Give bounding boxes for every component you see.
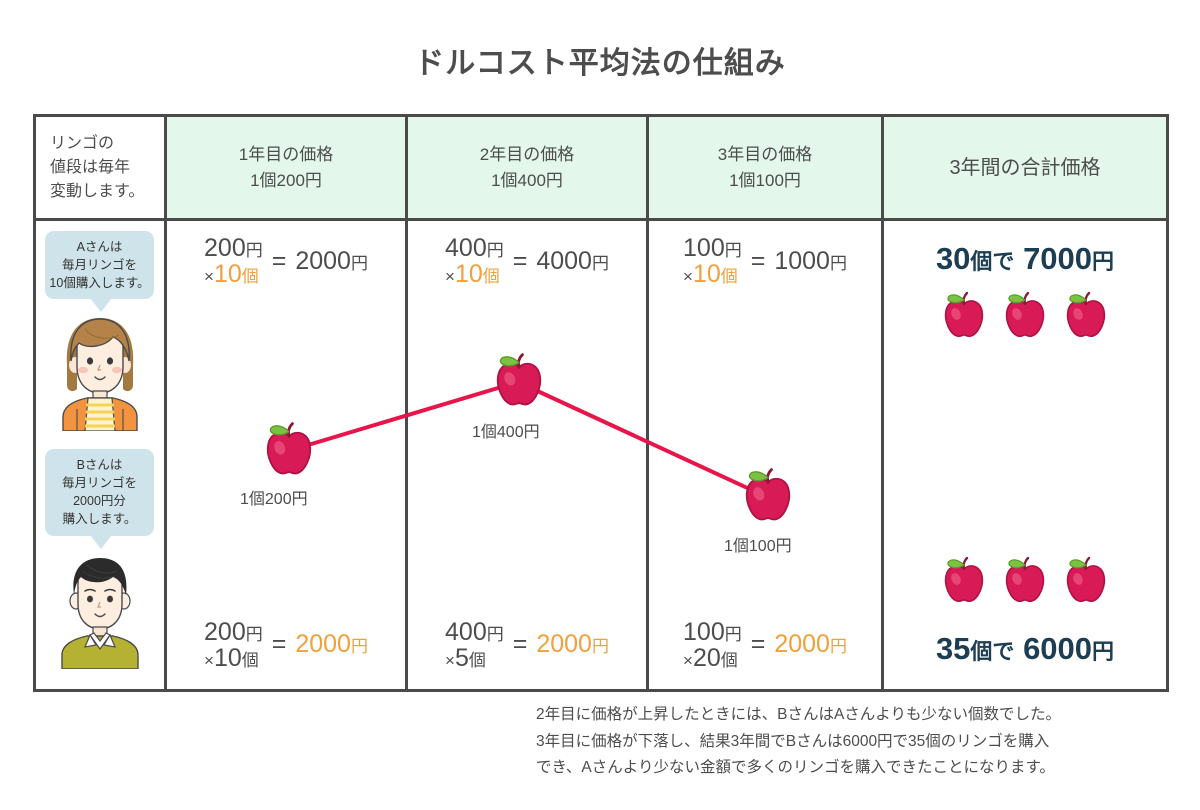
table-header-year3: 3年目の価格 1個100円 [649,117,884,221]
table-header-year2: 2年目の価格 1個400円 [408,117,649,221]
footnote-line-3: でき、Aさんより少ない金額で多くのリンゴを購入できたことになります。 [536,755,1176,782]
b-y1-price: 200 [204,618,246,646]
calc-person-b-year2: 400円 ×5個 = 2000円 [408,619,646,672]
b-y2-result: 2000 [536,630,592,658]
speech-bubble-person-a: Aさんは 毎月リンゴを 10個購入します。 [45,231,154,299]
b-y1-qty-unit: 個 [242,651,259,670]
total-a-count-unit: 個で [970,249,1014,274]
total-a-amount-unit: 円 [1092,249,1114,274]
note-line-1: リンゴの [50,132,144,156]
bubble-a-line-2: 毎月リンゴを [48,256,151,274]
a-y1-result-unit: 円 [351,254,368,273]
apple-icon [938,554,990,611]
b-y3-price: 100 [683,618,725,646]
a-y1-price-unit: 円 [246,241,263,260]
a-y2-price: 400 [445,234,487,262]
bubble-a-line-3: 10個購入します。 [48,274,151,292]
woman-avatar [57,313,143,436]
page-title: ドルコスト平均法の仕組み [0,38,1200,82]
calc-person-b-year3: 100円 ×20個 = 2000円 [649,619,881,672]
a-y2-equals: = [513,247,528,276]
year2-title: 2年目の価格 [480,142,574,168]
a-y1-qty-unit: 個 [242,267,259,286]
b-y1-equals: = [272,630,287,659]
b-y2-qty: 5 [455,644,469,672]
a-y3-result: 1000 [774,247,830,275]
apple-icon [999,554,1051,611]
b-y3-result-unit: 円 [830,637,847,656]
a-y2-mult: × [445,267,455,286]
a-y1-price: 200 [204,234,246,262]
a-y2-result-unit: 円 [592,254,609,273]
footnote: 2年目に価格が上昇したときには、BさんはAさんよりも少ない個数でした。 3年目に… [536,702,1176,782]
apple-icon [999,289,1051,346]
b-y1-mult: × [204,651,214,670]
total-b-apple-group [884,554,1166,611]
table-header-total: 3年間の合計価格 [884,117,1166,221]
bubble-b-line-1: Bさんは [48,456,151,474]
a-y1-equals: = [272,247,287,276]
table-header-year1: 1年目の価格 1個200円 [167,117,408,221]
b-y1-result-unit: 円 [351,637,368,656]
table-header-note: リンゴの 値段は毎年 変動します。 [36,117,167,221]
a-y3-price-unit: 円 [725,241,742,260]
a-y3-mult: × [683,267,693,286]
footnote-line-2: 3年目に価格が下落し、結果3年間でBさんは6000円で35個のリンゴを購入 [536,729,1176,756]
b-y2-result-unit: 円 [592,637,609,656]
year1-title: 1年目の価格 [239,142,333,168]
a-y3-result-unit: 円 [830,254,847,273]
total-b-amount: 6000 [1023,631,1092,666]
a-y3-equals: = [751,247,766,276]
year1-column: 200円 ×10個 = 2000円 200円 ×10個 = 2000円 [167,221,408,689]
b-y3-result: 2000 [774,630,830,658]
year2-column: 400円 ×10個 = 4000円 400円 ×5個 = 2000円 [408,221,649,689]
total-person-b: 35個で 6000円 [884,631,1166,667]
b-y1-price-unit: 円 [246,625,263,644]
a-y1-result: 2000 [295,247,351,275]
total-a-count: 30 [936,241,970,276]
calc-person-a-year3: 100円 ×10個 = 1000円 [649,235,881,288]
b-y3-price-unit: 円 [725,625,742,644]
a-y3-qty-unit: 個 [721,267,738,286]
year2-price: 1個400円 [480,168,574,194]
calc-person-a-year1: 200円 ×10個 = 2000円 [167,235,405,288]
year1-price: 1個200円 [239,168,333,194]
calc-person-b-year1: 200円 ×10個 = 2000円 [167,619,405,672]
bubble-b-line-3: 2000円分 [48,492,151,510]
apple-icon [1060,289,1112,346]
apple-icon [938,289,990,346]
apple-icon [1060,554,1112,611]
total-a-amount: 7000 [1023,241,1092,276]
a-y1-mult: × [204,267,214,286]
b-y3-equals: = [751,630,766,659]
note-line-2: 値段は毎年 [50,156,144,180]
b-y2-price: 400 [445,618,487,646]
a-y2-qty: 10 [455,260,483,288]
total-a-apple-group [884,289,1166,346]
year3-price: 1個100円 [718,168,812,194]
b-y3-mult: × [683,651,693,670]
b-y2-mult: × [445,651,455,670]
b-y3-qty-unit: 個 [721,651,738,670]
year3-column: 100円 ×10個 = 1000円 100円 ×20個 = 2000円 [649,221,884,689]
total-header-label: 3年間の合計価格 [949,153,1100,183]
a-y3-price: 100 [683,234,725,262]
a-y1-qty: 10 [214,260,242,288]
b-y2-equals: = [513,630,528,659]
b-y2-qty-unit: 個 [469,651,486,670]
total-b-count-unit: 個で [970,639,1014,664]
a-y2-result: 4000 [536,247,592,275]
bubble-a-line-1: Aさんは [48,238,151,256]
man-avatar [57,551,143,674]
year3-title: 3年目の価格 [718,142,812,168]
bubble-b-line-4: 購入します。 [48,510,151,528]
footnote-line-1: 2年目に価格が上昇したときには、BさんはAさんよりも少ない個数でした。 [536,702,1176,729]
total-b-count: 35 [936,631,970,666]
bubble-b-line-2: 毎月リンゴを [48,474,151,492]
b-y2-price-unit: 円 [487,625,504,644]
a-y2-price-unit: 円 [487,241,504,260]
total-person-a: 30個で 7000円 [884,241,1166,277]
calc-person-a-year2: 400円 ×10個 = 4000円 [408,235,646,288]
total-b-amount-unit: 円 [1092,639,1114,664]
b-y3-qty: 20 [693,644,721,672]
speech-bubble-person-b: Bさんは 毎月リンゴを 2000円分 購入します。 [45,449,154,536]
note-line-3: 変動します。 [50,180,144,204]
a-y2-qty-unit: 個 [483,267,500,286]
comparison-table: リンゴの 値段は毎年 変動します。 1年目の価格 1個200円 2年目の価格 1… [33,114,1169,692]
b-y1-result: 2000 [295,630,351,658]
total-column: 30個で 7000円 35個で 6000円 [884,221,1166,689]
persons-column: Aさんは 毎月リンゴを 10個購入します。 [36,221,167,689]
a-y3-qty: 10 [693,260,721,288]
b-y1-qty: 10 [214,644,242,672]
